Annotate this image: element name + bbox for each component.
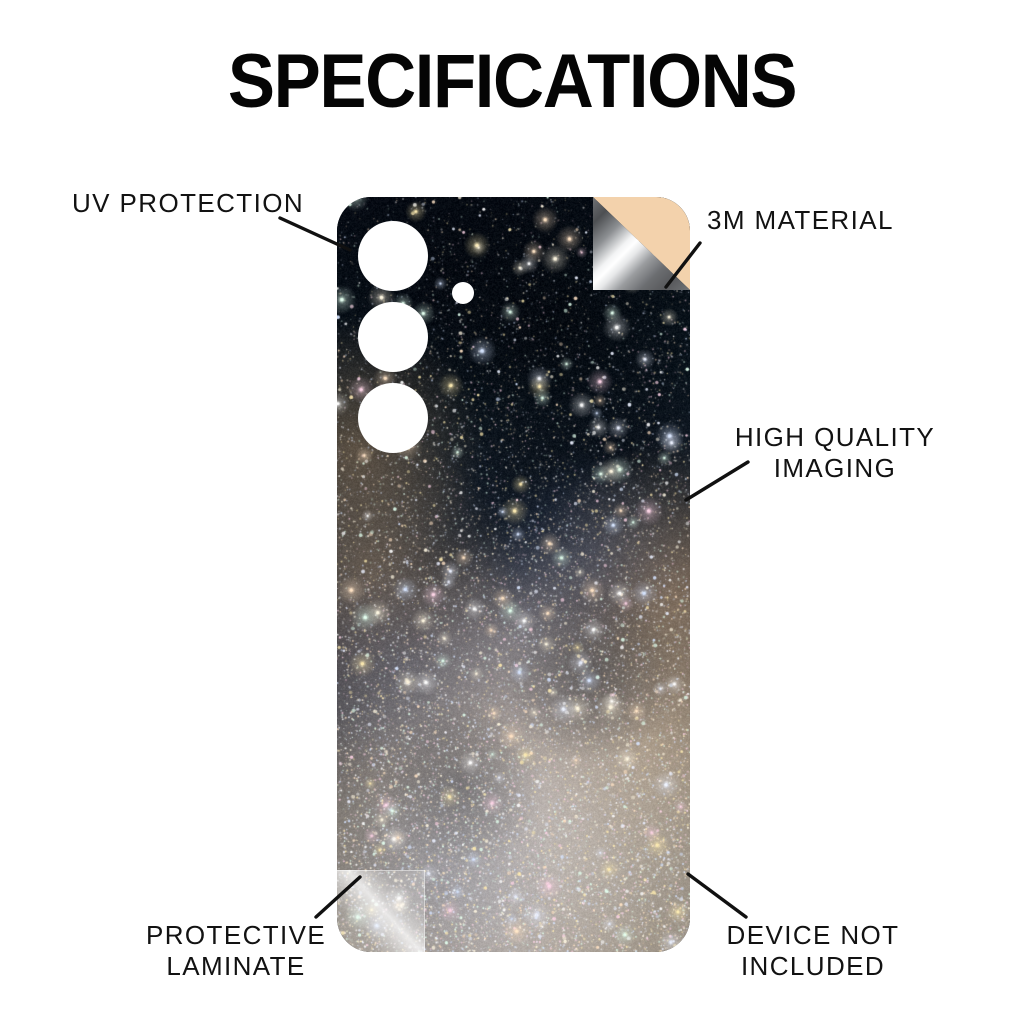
callout-label-device-not-included: DEVICE NOT INCLUDED [718, 920, 908, 981]
callout-label-3m-material: 3M MATERIAL [707, 205, 894, 236]
protective-laminate-sheet [337, 870, 425, 952]
callout-label-protective-laminate: PROTECTIVE LAMINATE [146, 920, 326, 981]
specifications-poster: SPECIFICATIONS UV PROTECTION 3M MATERIAL… [0, 0, 1024, 1024]
camera-lens-cutout-2 [358, 302, 428, 372]
camera-lens-cutout-3 [358, 383, 428, 453]
laminate-edge-right [424, 870, 425, 952]
phone-skin-product [337, 197, 690, 952]
page-title: SPECIFICATIONS [36, 44, 988, 120]
camera-lens-cutout-1 [358, 221, 428, 291]
camera-flash-cutout [452, 282, 474, 304]
leader-line-device-not-included [688, 874, 746, 917]
callout-label-uv-protection: UV PROTECTION [72, 188, 304, 219]
laminate-peel-corner-bottom-left [337, 870, 425, 952]
laminate-edge-top [337, 870, 425, 871]
callout-label-high-quality-imaging: HIGH QUALITY IMAGING [727, 422, 943, 483]
adhesive-peel-corner-top-right [593, 197, 690, 290]
